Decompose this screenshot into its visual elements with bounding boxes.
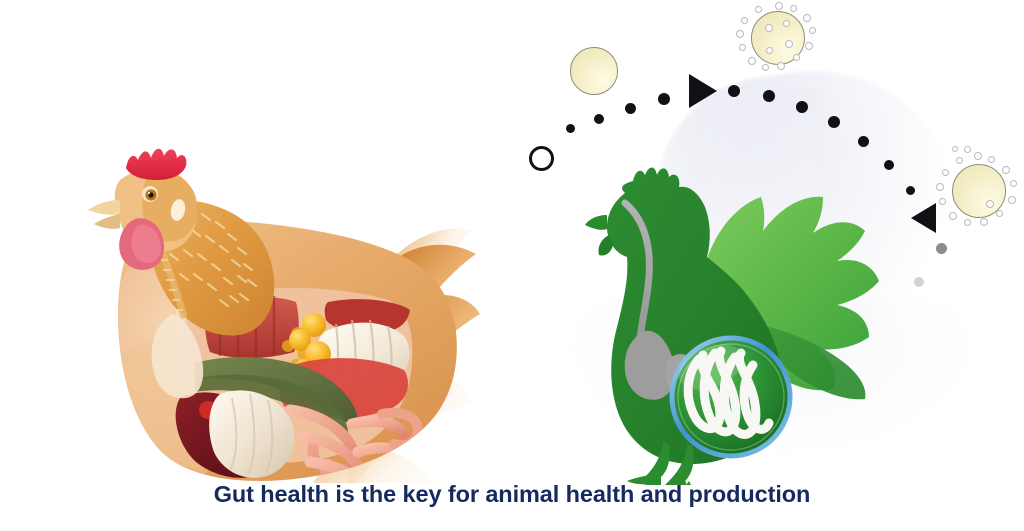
cell-micro-dot — [1008, 196, 1016, 204]
cell-micro-dot — [964, 146, 971, 153]
arc-dot — [728, 85, 740, 97]
cell-micro-dot — [736, 30, 744, 38]
arc-dot — [594, 114, 604, 124]
cell-micro-dot — [809, 27, 816, 34]
cell-micro-dot — [765, 24, 773, 32]
cell-micro-dot — [785, 40, 793, 48]
arc-dot — [858, 136, 869, 147]
infographic-canvas: Gut health is the key for animal health … — [0, 0, 1024, 531]
cell-micro-dot — [952, 146, 958, 152]
cell-micro-dot — [949, 212, 957, 220]
cell-micro-dot — [1010, 180, 1017, 187]
cell-micro-dot — [974, 152, 982, 160]
cell-micro-dot — [748, 57, 756, 65]
cell-sphere-left — [570, 47, 618, 95]
arc-dot — [625, 103, 636, 114]
arc-dot — [658, 93, 670, 105]
arc-dot — [566, 124, 575, 133]
cell-micro-dot — [980, 218, 988, 226]
arc-dot — [796, 101, 808, 113]
cell-micro-dot — [775, 2, 783, 10]
arc-dot — [828, 116, 840, 128]
arc-dot — [884, 160, 894, 170]
arc-dot — [906, 186, 915, 195]
cell-micro-dot — [996, 210, 1003, 217]
cell-micro-dot — [766, 47, 773, 54]
cell-micro-dot — [793, 54, 800, 61]
fading-gray-dot — [914, 277, 924, 287]
cell-micro-dot — [783, 20, 790, 27]
arc-dot — [763, 90, 775, 102]
cell-cluster-right — [934, 140, 1024, 240]
cell-micro-dot — [1002, 166, 1010, 174]
fading-gray-dot — [936, 243, 947, 254]
cell-micro-dot — [936, 183, 944, 191]
cell-micro-dot — [803, 14, 811, 22]
cell-micro-dot — [790, 5, 797, 12]
cell-micro-dot — [942, 169, 949, 176]
dotted-trajectory-arc — [0, 0, 1024, 531]
cell-micro-dot — [741, 17, 748, 24]
arc-arrowhead-second — [911, 203, 936, 233]
cell-micro-dot — [956, 157, 963, 164]
cell-micro-dot — [939, 198, 946, 205]
cell-micro-dot — [777, 62, 785, 70]
cell-micro-dot — [762, 64, 769, 71]
cell-micro-dot — [988, 156, 995, 163]
cell-micro-dot — [739, 44, 746, 51]
page-caption: Gut health is the key for animal health … — [0, 481, 1024, 508]
cell-cluster-top — [735, 0, 827, 80]
cell-micro-dot — [805, 42, 813, 50]
arc-arrowhead-first — [689, 74, 717, 108]
arc-start-open-circle — [529, 146, 554, 171]
cell-micro-dot — [964, 219, 971, 226]
cell-micro-dot — [986, 200, 994, 208]
cell-micro-dot — [755, 6, 762, 13]
